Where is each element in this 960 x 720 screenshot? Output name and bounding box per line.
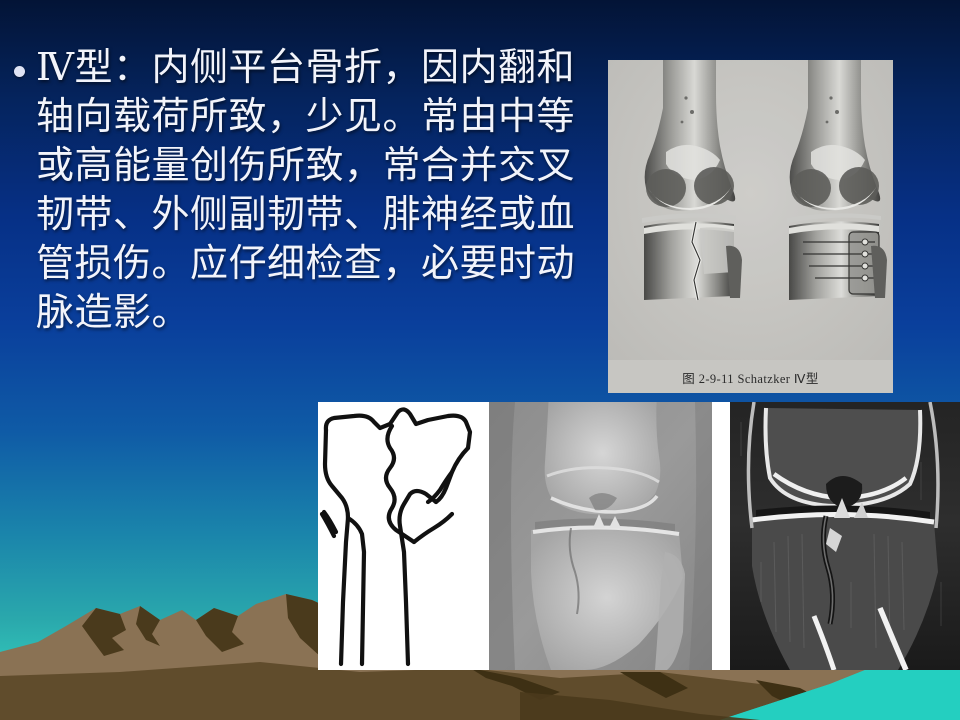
figure-anatomical-illustration: 图 2-9-11 Schatzker Ⅳ型 bbox=[608, 60, 893, 393]
figure-caption: 图 2-9-11 Schatzker Ⅳ型 bbox=[608, 368, 893, 387]
tibial-plateau-fracture-line-drawing-icon bbox=[318, 402, 489, 670]
knee-radiograph-icon bbox=[489, 402, 712, 670]
presentation-slide: Ⅳ型：内侧平台骨折，因内翻和轴向载荷所致，少见。常由中等或高能量创伤所致，常合并… bbox=[0, 0, 960, 720]
panel-cell-line-drawing bbox=[318, 402, 489, 670]
panel-cell-ct bbox=[730, 402, 960, 670]
bullet-point-icon bbox=[14, 66, 25, 77]
panel-cell-divider bbox=[712, 402, 730, 670]
knee-fracture-drawing-icon bbox=[608, 60, 893, 393]
knee-ct-coronal-icon bbox=[730, 402, 960, 670]
figure-image-panel bbox=[318, 402, 960, 670]
bullet-list-item: Ⅳ型：内侧平台骨折，因内翻和轴向载荷所致，少见。常由中等或高能量创伤所致，常合并… bbox=[8, 44, 588, 338]
bullet-paragraph: Ⅳ型：内侧平台骨折，因内翻和轴向载荷所致，少见。常由中等或高能量创伤所致，常合并… bbox=[36, 44, 588, 338]
bullet-text-block: Ⅳ型：内侧平台骨折，因内翻和轴向载荷所致，少见。常由中等或高能量创伤所致，常合并… bbox=[8, 44, 588, 338]
panel-cell-xray bbox=[489, 402, 712, 670]
